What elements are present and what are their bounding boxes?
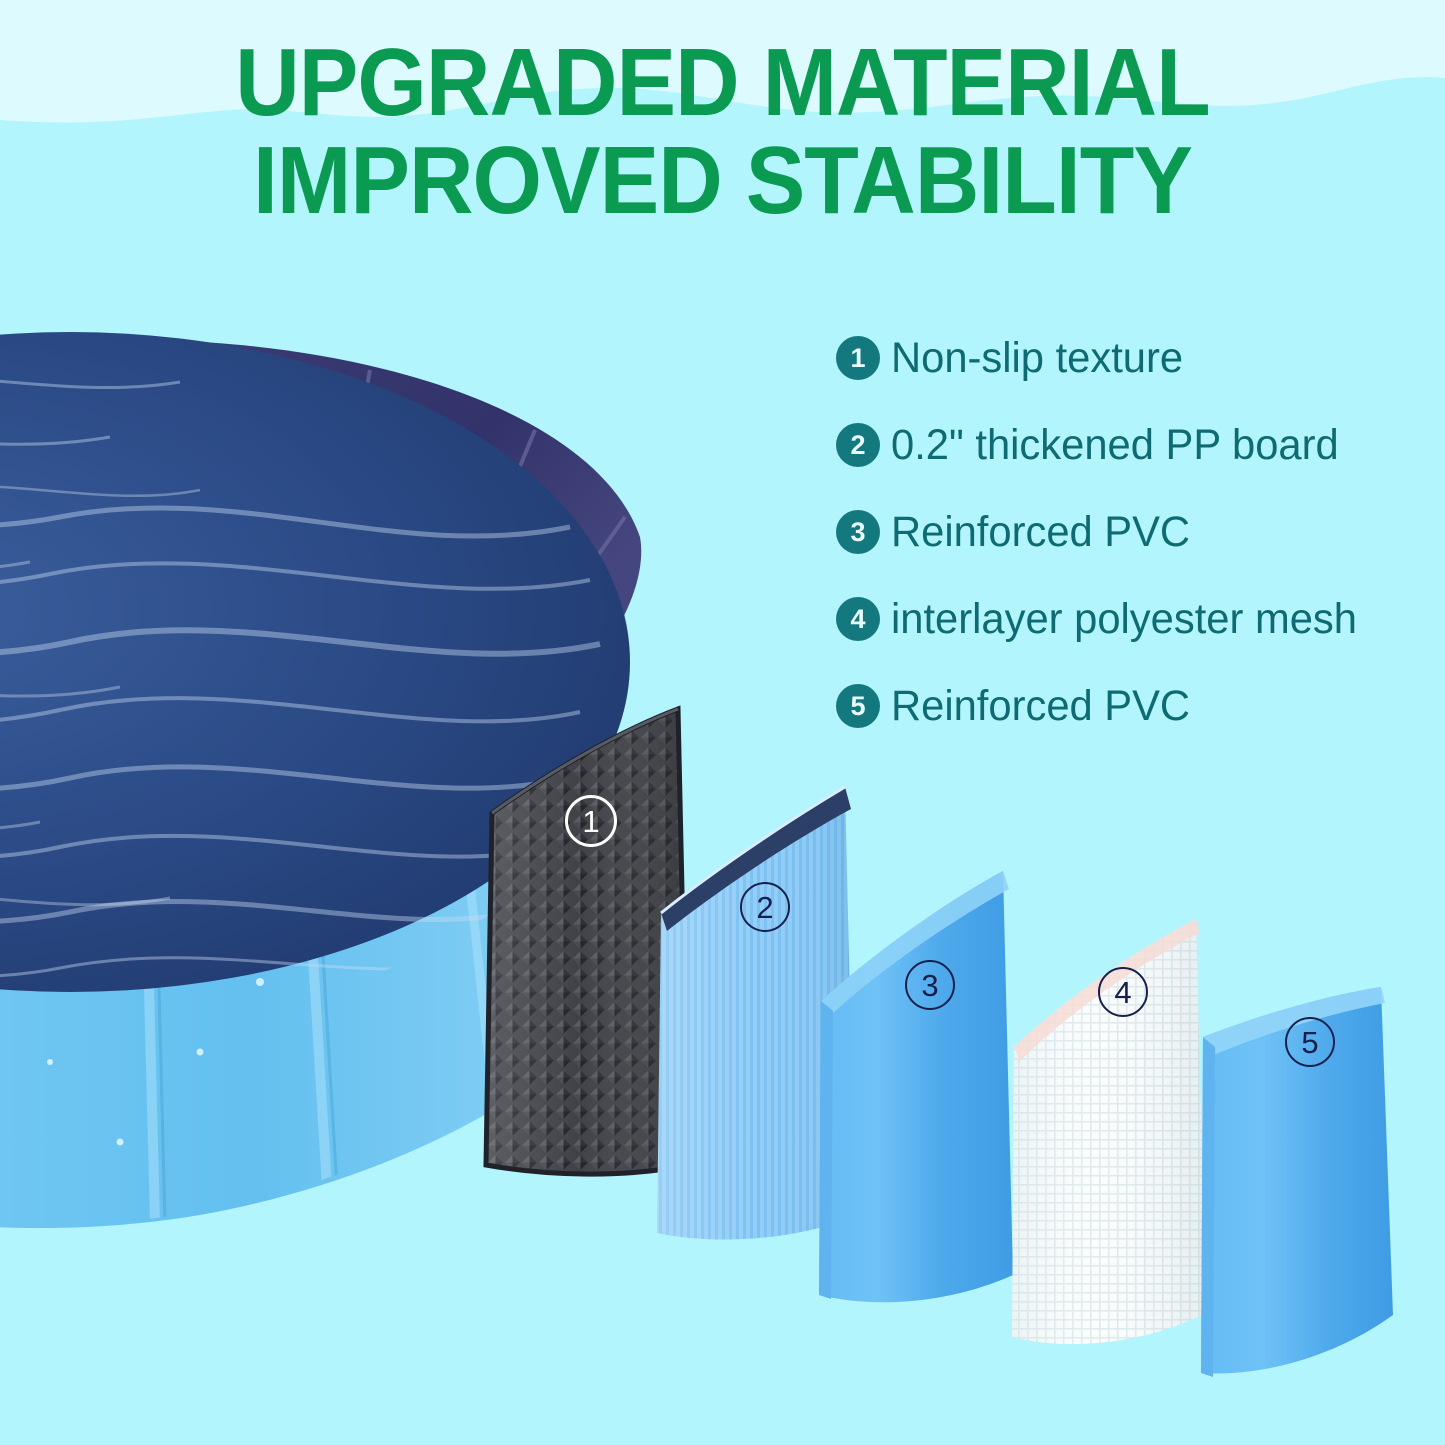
layer-5-number-badge: 5 xyxy=(1285,1017,1335,1067)
feature-item-1: 1 Non-slip texture xyxy=(836,332,1436,384)
page-title-line-2: IMPROVED STABILITY xyxy=(51,132,1395,230)
layer-1-number-badge: 1 xyxy=(565,795,617,847)
feature-item-2: 2 0.2" thickened PP board xyxy=(836,419,1436,471)
feature-label-3: Reinforced PVC xyxy=(891,511,1190,554)
layer-3-side-edge xyxy=(819,1001,833,1299)
feature-item-5: 5 Reinforced PVC xyxy=(836,680,1436,732)
feature-item-4: 4 interlayer polyester mesh xyxy=(836,593,1436,645)
layer-5-side-edge xyxy=(1201,1037,1215,1377)
feature-badge-4: 4 xyxy=(836,597,880,641)
layer-4-number-badge: 4 xyxy=(1098,967,1148,1017)
feature-badge-3: 3 xyxy=(836,510,880,554)
feature-label-2: 0.2" thickened PP board xyxy=(891,424,1339,467)
page-title-line-1: UPGRADED MATERIAL xyxy=(51,34,1395,132)
layer-3-number-badge: 3 xyxy=(905,960,955,1010)
page-title: UPGRADED MATERIAL IMPROVED STABILITY xyxy=(51,34,1395,230)
feature-label-4: interlayer polyester mesh xyxy=(891,598,1357,641)
feature-item-3: 3 Reinforced PVC xyxy=(836,506,1436,558)
layer-2-number-badge: 2 xyxy=(740,882,790,932)
feature-list: 1 Non-slip texture 2 0.2" thickened PP b… xyxy=(836,332,1436,767)
layer-panel-3: 3 xyxy=(805,855,1030,1325)
layer-panel-5: 5 xyxy=(1185,985,1410,1395)
feature-label-1: Non-slip texture xyxy=(891,337,1183,380)
feature-badge-2: 2 xyxy=(836,423,880,467)
feature-badge-1: 1 xyxy=(836,336,880,380)
infographic-canvas: UPGRADED MATERIAL IMPROVED STABILITY xyxy=(0,0,1445,1445)
feature-label-5: Reinforced PVC xyxy=(891,685,1190,728)
feature-badge-5: 5 xyxy=(836,684,880,728)
